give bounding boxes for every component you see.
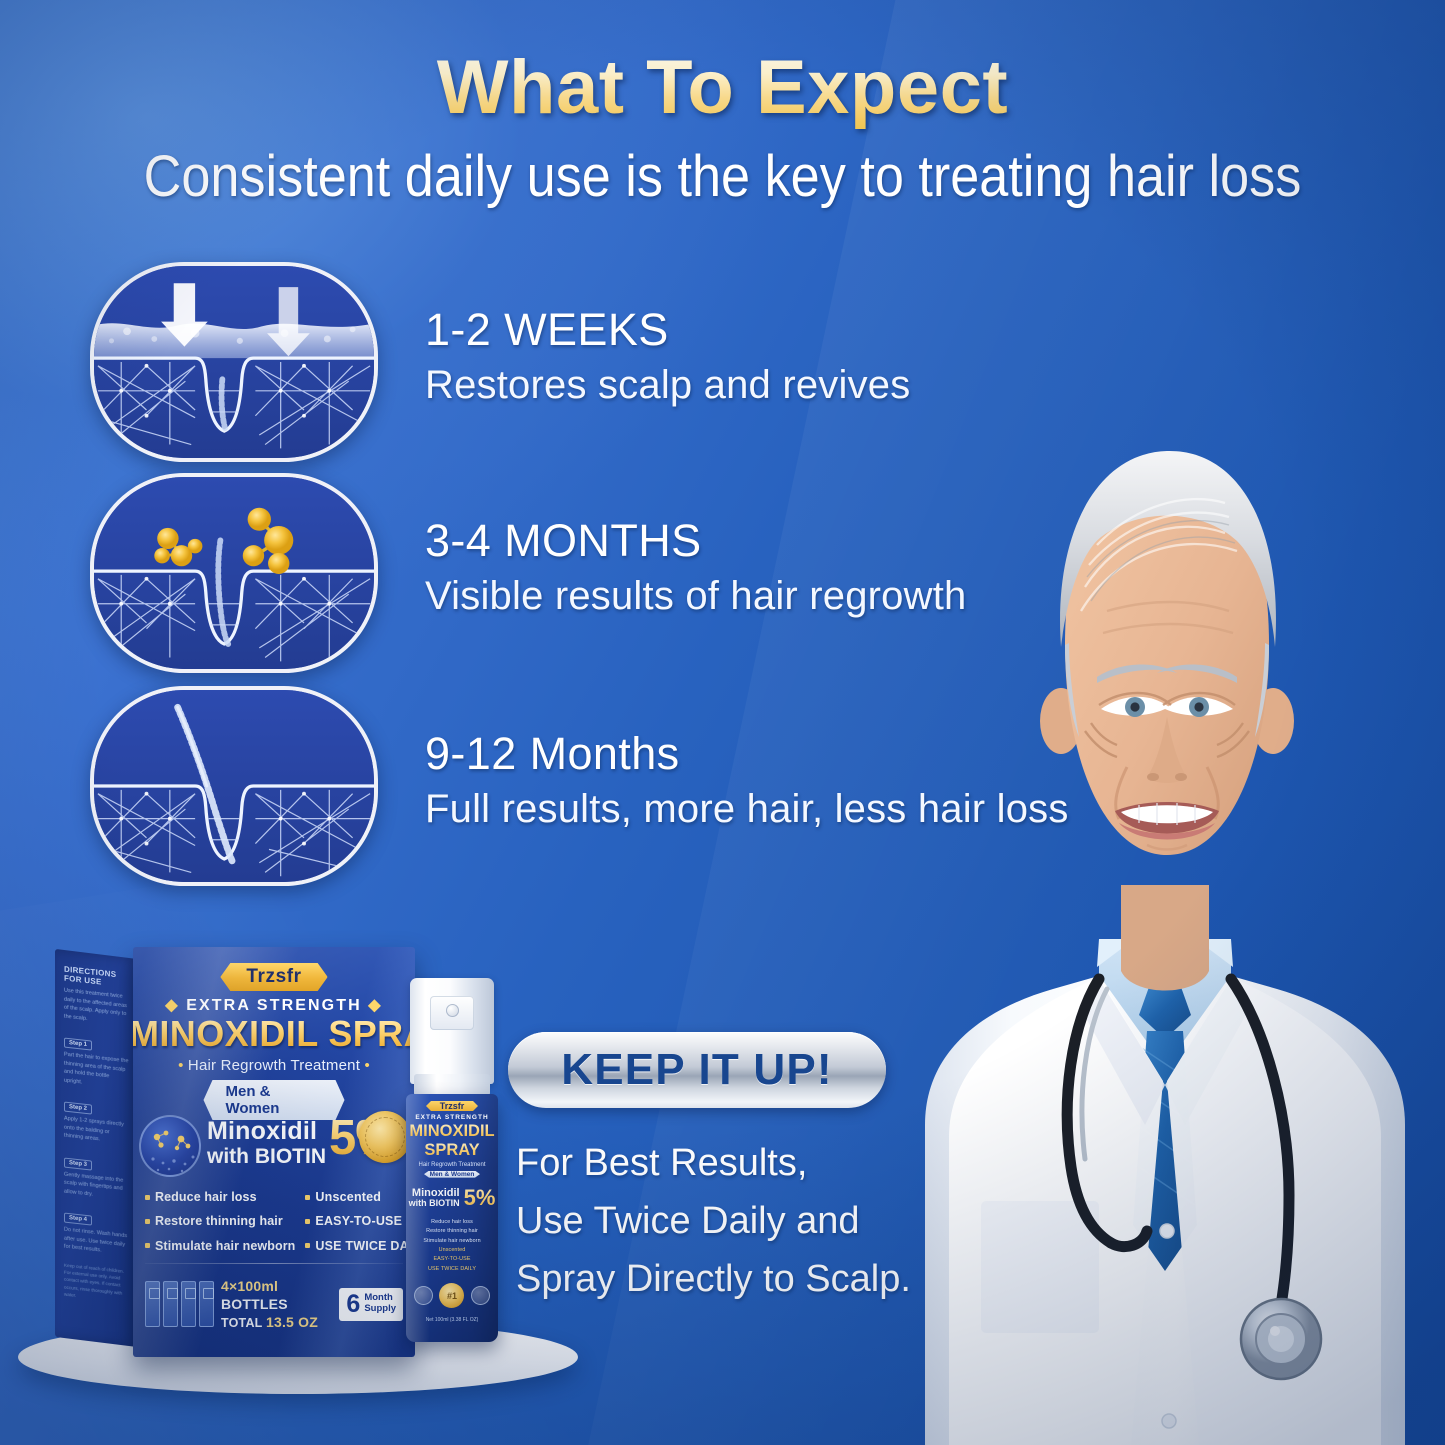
page-subtitle: Consistent daily use is the key to treat…: [72, 143, 1373, 210]
benefit-item: Reduce hair loss: [145, 1185, 295, 1209]
total-volume: 13.5 OZ: [266, 1314, 318, 1330]
active-ingredient: Minoxidil with BIOTIN: [207, 1117, 326, 1169]
bottle-seals: #1: [406, 1283, 498, 1308]
supply-number: 6: [346, 1292, 360, 1317]
step-2-text: Apply 1-2 sprays directly onto the baldi…: [64, 1115, 129, 1147]
bottle-icon: [163, 1281, 178, 1327]
bottle-brand: Trzsfr: [426, 1101, 478, 1111]
bottle-treatment: Hair Regrowth Treatment: [406, 1162, 498, 1168]
bottle-benefits: Reduce hair loss Restore thinning hair S…: [406, 1218, 498, 1275]
step-1-text: Part the hair to expose the thinning are…: [64, 1051, 129, 1092]
molecule-bubble-icon: [139, 1115, 201, 1177]
usage-line-2: Use Twice Daily and: [516, 1192, 936, 1250]
bottle-audience: Men & Women: [424, 1171, 480, 1178]
promo-banner: What To Expect Consistent daily use is t…: [0, 0, 1445, 1445]
bottle-benefit: Stimulate hair newborn: [406, 1237, 498, 1246]
bottle-product-line2: SPRAY: [406, 1142, 498, 1159]
bottles-count-line: 4×100ml BOTTLES: [221, 1277, 332, 1313]
bottle-net-volume: Net 100ml (3.38 FL OZ): [406, 1317, 498, 1323]
bottle-body-label: Trzsfr EXTRA STRENGTH MINOXIDIL SPRAY Ha…: [406, 1094, 498, 1342]
product-box-front: Trzsfr ◆ EXTRA STRENGTH ◆ MINOXIDIL SPRA…: [133, 947, 415, 1357]
bottles-count: 4×100ml: [221, 1278, 278, 1294]
bottle-benefit: Restore thinning hair: [406, 1227, 498, 1236]
rank-seal-icon: #1: [439, 1283, 464, 1308]
scalp-full-hair-icon: [90, 686, 378, 886]
extra-strength-text: EXTRA STRENGTH: [186, 997, 361, 1014]
active-ingredient-name: Minoxidil: [207, 1117, 326, 1146]
benefits-list: Reduce hair loss Restore thinning hair S…: [145, 1185, 403, 1258]
bottle-icon: [181, 1281, 196, 1327]
directions-title: DIRECTIONS FOR USE: [64, 965, 129, 990]
step-3-text: Gently massage into the scalp with finge…: [64, 1170, 129, 1202]
keep-it-up-label: KEEP IT UP!: [561, 1045, 833, 1095]
audience-chip: Men & Women: [204, 1080, 345, 1120]
total-label: TOTAL: [221, 1316, 262, 1330]
bottle-benefit: Unscented: [406, 1246, 498, 1255]
step-4-text: Do not rinse. Wash hands after use. Use …: [64, 1226, 129, 1258]
active-ingredient-biotin: with BIOTIN: [207, 1145, 326, 1169]
treatment-text: Hair Regrowth Treatment: [188, 1057, 360, 1074]
benefits-left-column: Reduce hair loss Restore thinning hair S…: [145, 1185, 295, 1258]
bottle-product-line1: MINOXIDIL: [406, 1123, 498, 1140]
dot-bullet-icon: •: [364, 1057, 369, 1074]
bottle-neck: [414, 1074, 490, 1096]
step-1-label: Step 1: [64, 1038, 92, 1051]
usage-line-1: For Best Results,: [516, 1134, 936, 1192]
bottle-percent: 5%: [464, 1185, 496, 1211]
timeline-description-1: Restores scalp and revives: [425, 363, 910, 408]
doctor-photo: [885, 325, 1445, 1445]
step-4-label: Step 4: [64, 1213, 92, 1226]
scalp-molecules-icon: [90, 473, 378, 673]
treatment-label: • Hair Regrowth Treatment •: [133, 1057, 415, 1074]
bottles-illustration: [145, 1281, 214, 1327]
spray-bottle: Trzsfr EXTRA STRENGTH MINOXIDIL SPRAY Ha…: [396, 978, 508, 1348]
bottle-icon: [145, 1281, 160, 1327]
spray-cap: [410, 978, 494, 1084]
cruelty-free-seal-icon: [414, 1286, 433, 1305]
bottle-benefit: EASY-TO-USE: [406, 1255, 498, 1264]
diamond-bullet-icon: ◆: [368, 997, 382, 1014]
bottle-icon: [199, 1281, 214, 1327]
bottle-active-name: Minoxidil: [412, 1187, 460, 1199]
usage-instructions: For Best Results, Use Twice Daily and Sp…: [516, 1134, 936, 1308]
directions-footer: Keep out of reach of children. For exter…: [64, 1261, 129, 1305]
total-volume-line: TOTAL 13.5 OZ: [221, 1313, 332, 1331]
usage-line-3: Spray Directly to Scalp.: [516, 1250, 936, 1308]
bottle-benefit: USE TWICE DAILY: [406, 1265, 498, 1274]
product-box: DIRECTIONS FOR USE Use this treatment tw…: [55, 947, 415, 1357]
timeline-text-1: 1-2 WEEKS Restores scalp and revives: [425, 304, 910, 408]
bottle-extra-strength: EXTRA STRENGTH: [406, 1114, 498, 1121]
page-title: What To Expect: [0, 44, 1445, 131]
supply-duration: Month Supply: [364, 1293, 396, 1315]
benefit-item: Stimulate hair newborn: [145, 1234, 295, 1258]
quantity-info: 4×100ml BOTTLES TOTAL 13.5 OZ: [221, 1277, 332, 1332]
bottle-active-biotin: with BIOTIN: [409, 1199, 460, 1209]
brand-name: Trzsfr: [220, 963, 327, 991]
bottle-active: Minoxidil with BIOTIN: [409, 1187, 460, 1209]
diamond-bullet-icon: ◆: [165, 997, 179, 1014]
benefit-item: Restore thinning hair: [145, 1209, 295, 1233]
dot-bullet-icon: •: [178, 1057, 183, 1074]
supply-word: Supply: [364, 1304, 396, 1315]
timeline-heading-1: 1-2 WEEKS: [425, 304, 910, 356]
bottle-benefit: Reduce hair loss: [406, 1218, 498, 1227]
product-name: MINOXIDIL SPRAY: [133, 1013, 411, 1055]
keep-it-up-badge: KEEP IT UP!: [508, 1032, 886, 1108]
bottles-label: BOTTLES: [221, 1296, 288, 1312]
box-divider: [145, 1263, 403, 1264]
extra-strength-label: ◆ EXTRA STRENGTH ◆: [133, 995, 415, 1015]
quality-seal-icon: [471, 1286, 490, 1305]
directions-intro: Use this treatment twice daily to the af…: [64, 987, 129, 1028]
scalp-absorption-icon: [90, 262, 378, 462]
product-box-side-panel: DIRECTIONS FOR USE Use this treatment tw…: [55, 949, 137, 1347]
supply-badge: 6 Month Supply: [339, 1288, 403, 1321]
box-bottom-row: 4×100ml BOTTLES TOTAL 13.5 OZ 6 Month Su…: [145, 1277, 403, 1332]
bottle-active-row: Minoxidil with BIOTIN 5%: [406, 1185, 498, 1211]
step-2-label: Step 2: [64, 1102, 92, 1115]
step-3-label: Step 3: [64, 1157, 92, 1170]
